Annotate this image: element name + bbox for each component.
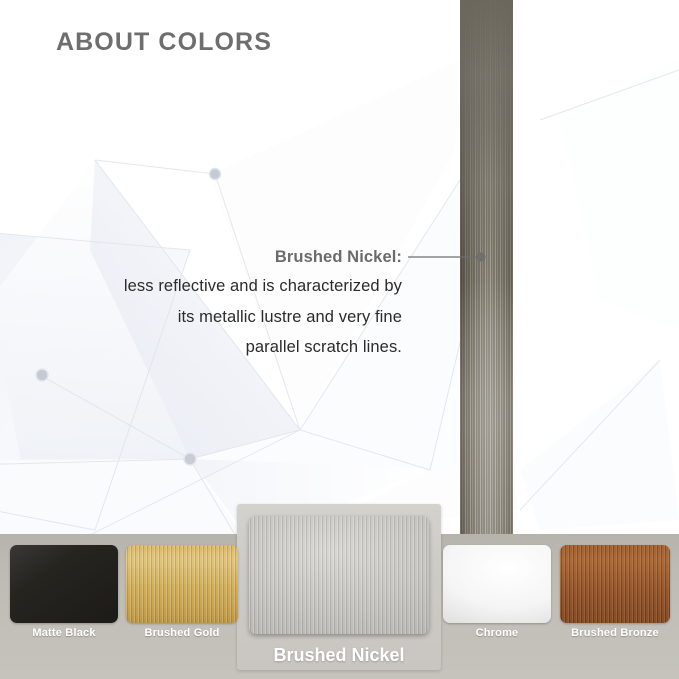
swatch-label-chrome: Chrome [443, 627, 551, 639]
callout-text-block: Brushed Nickel: less reflective and is c… [52, 243, 402, 363]
background-node-dot [184, 453, 196, 465]
swatch-label-matte-black: Matte Black [10, 627, 118, 639]
swatch-label-brushed-nickel: Brushed Nickel [249, 645, 429, 666]
callout-line-3: parallel scratch lines. [52, 332, 402, 363]
background-node-dot [36, 369, 48, 381]
callout-line-2: its metallic lustre and very fine [52, 302, 402, 333]
callout-line-1: less reflective and is characterized by [52, 271, 402, 302]
swatch-brushed-gold[interactable] [126, 545, 238, 623]
swatch-label-brushed-gold: Brushed Gold [126, 627, 238, 639]
swatch-brushed-bronze[interactable] [560, 545, 670, 623]
swatch-chrome[interactable] [443, 545, 551, 623]
callout-heading: Brushed Nickel: [52, 243, 402, 271]
about-colors-panel: ABOUT COLORS Brushed Nickel: less reflec… [0, 0, 679, 679]
background-node-dot [210, 169, 221, 180]
swatch-label-brushed-bronze: Brushed Bronze [560, 627, 670, 639]
leader-line-icon [405, 248, 487, 266]
brushed-nickel-vertical-sample [460, 0, 513, 534]
swatch-brushed-nickel[interactable] [249, 516, 429, 634]
swatch-matte-black[interactable] [10, 545, 118, 623]
page-title: ABOUT COLORS [56, 28, 272, 57]
